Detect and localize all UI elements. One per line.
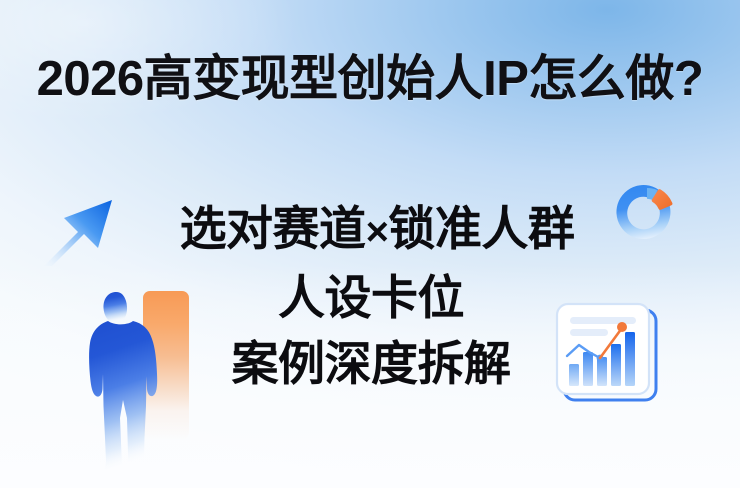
- headline-line-1: 选对赛道×锁准人群: [0, 196, 740, 265]
- headline-line-2: 人设卡位: [0, 265, 740, 331]
- headline-block: 选对赛道×锁准人群 人设卡位 案例深度拆解: [0, 196, 740, 397]
- poster-canvas: 2026高变现型创始人IP怎么做?: [0, 0, 740, 488]
- headline-line-3: 案例深度拆解: [0, 331, 740, 397]
- headline-separator: ×: [366, 210, 389, 254]
- headline-line-1-part-1: 选对赛道: [180, 202, 366, 255]
- headline-line-1-part-2: 锁准人群: [388, 202, 574, 255]
- page-title: 2026高变现型创始人IP怎么做?: [0, 55, 740, 104]
